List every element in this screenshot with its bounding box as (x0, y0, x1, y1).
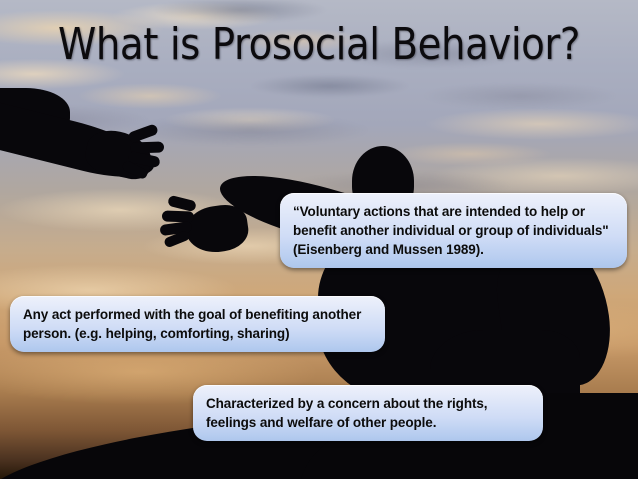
slide-canvas: What is Prosocial Behavior? “Voluntary a… (0, 0, 638, 479)
definition-quote-callout: “Voluntary actions that are intended to … (280, 193, 627, 268)
definition-characterized-callout: Characterized by a concern about the rig… (193, 385, 543, 441)
definition-anyact-callout: Any act performed with the goal of benef… (10, 296, 385, 352)
hand-finger-icon (162, 210, 194, 222)
page-title: What is Prosocial Behavior? (38, 22, 599, 68)
